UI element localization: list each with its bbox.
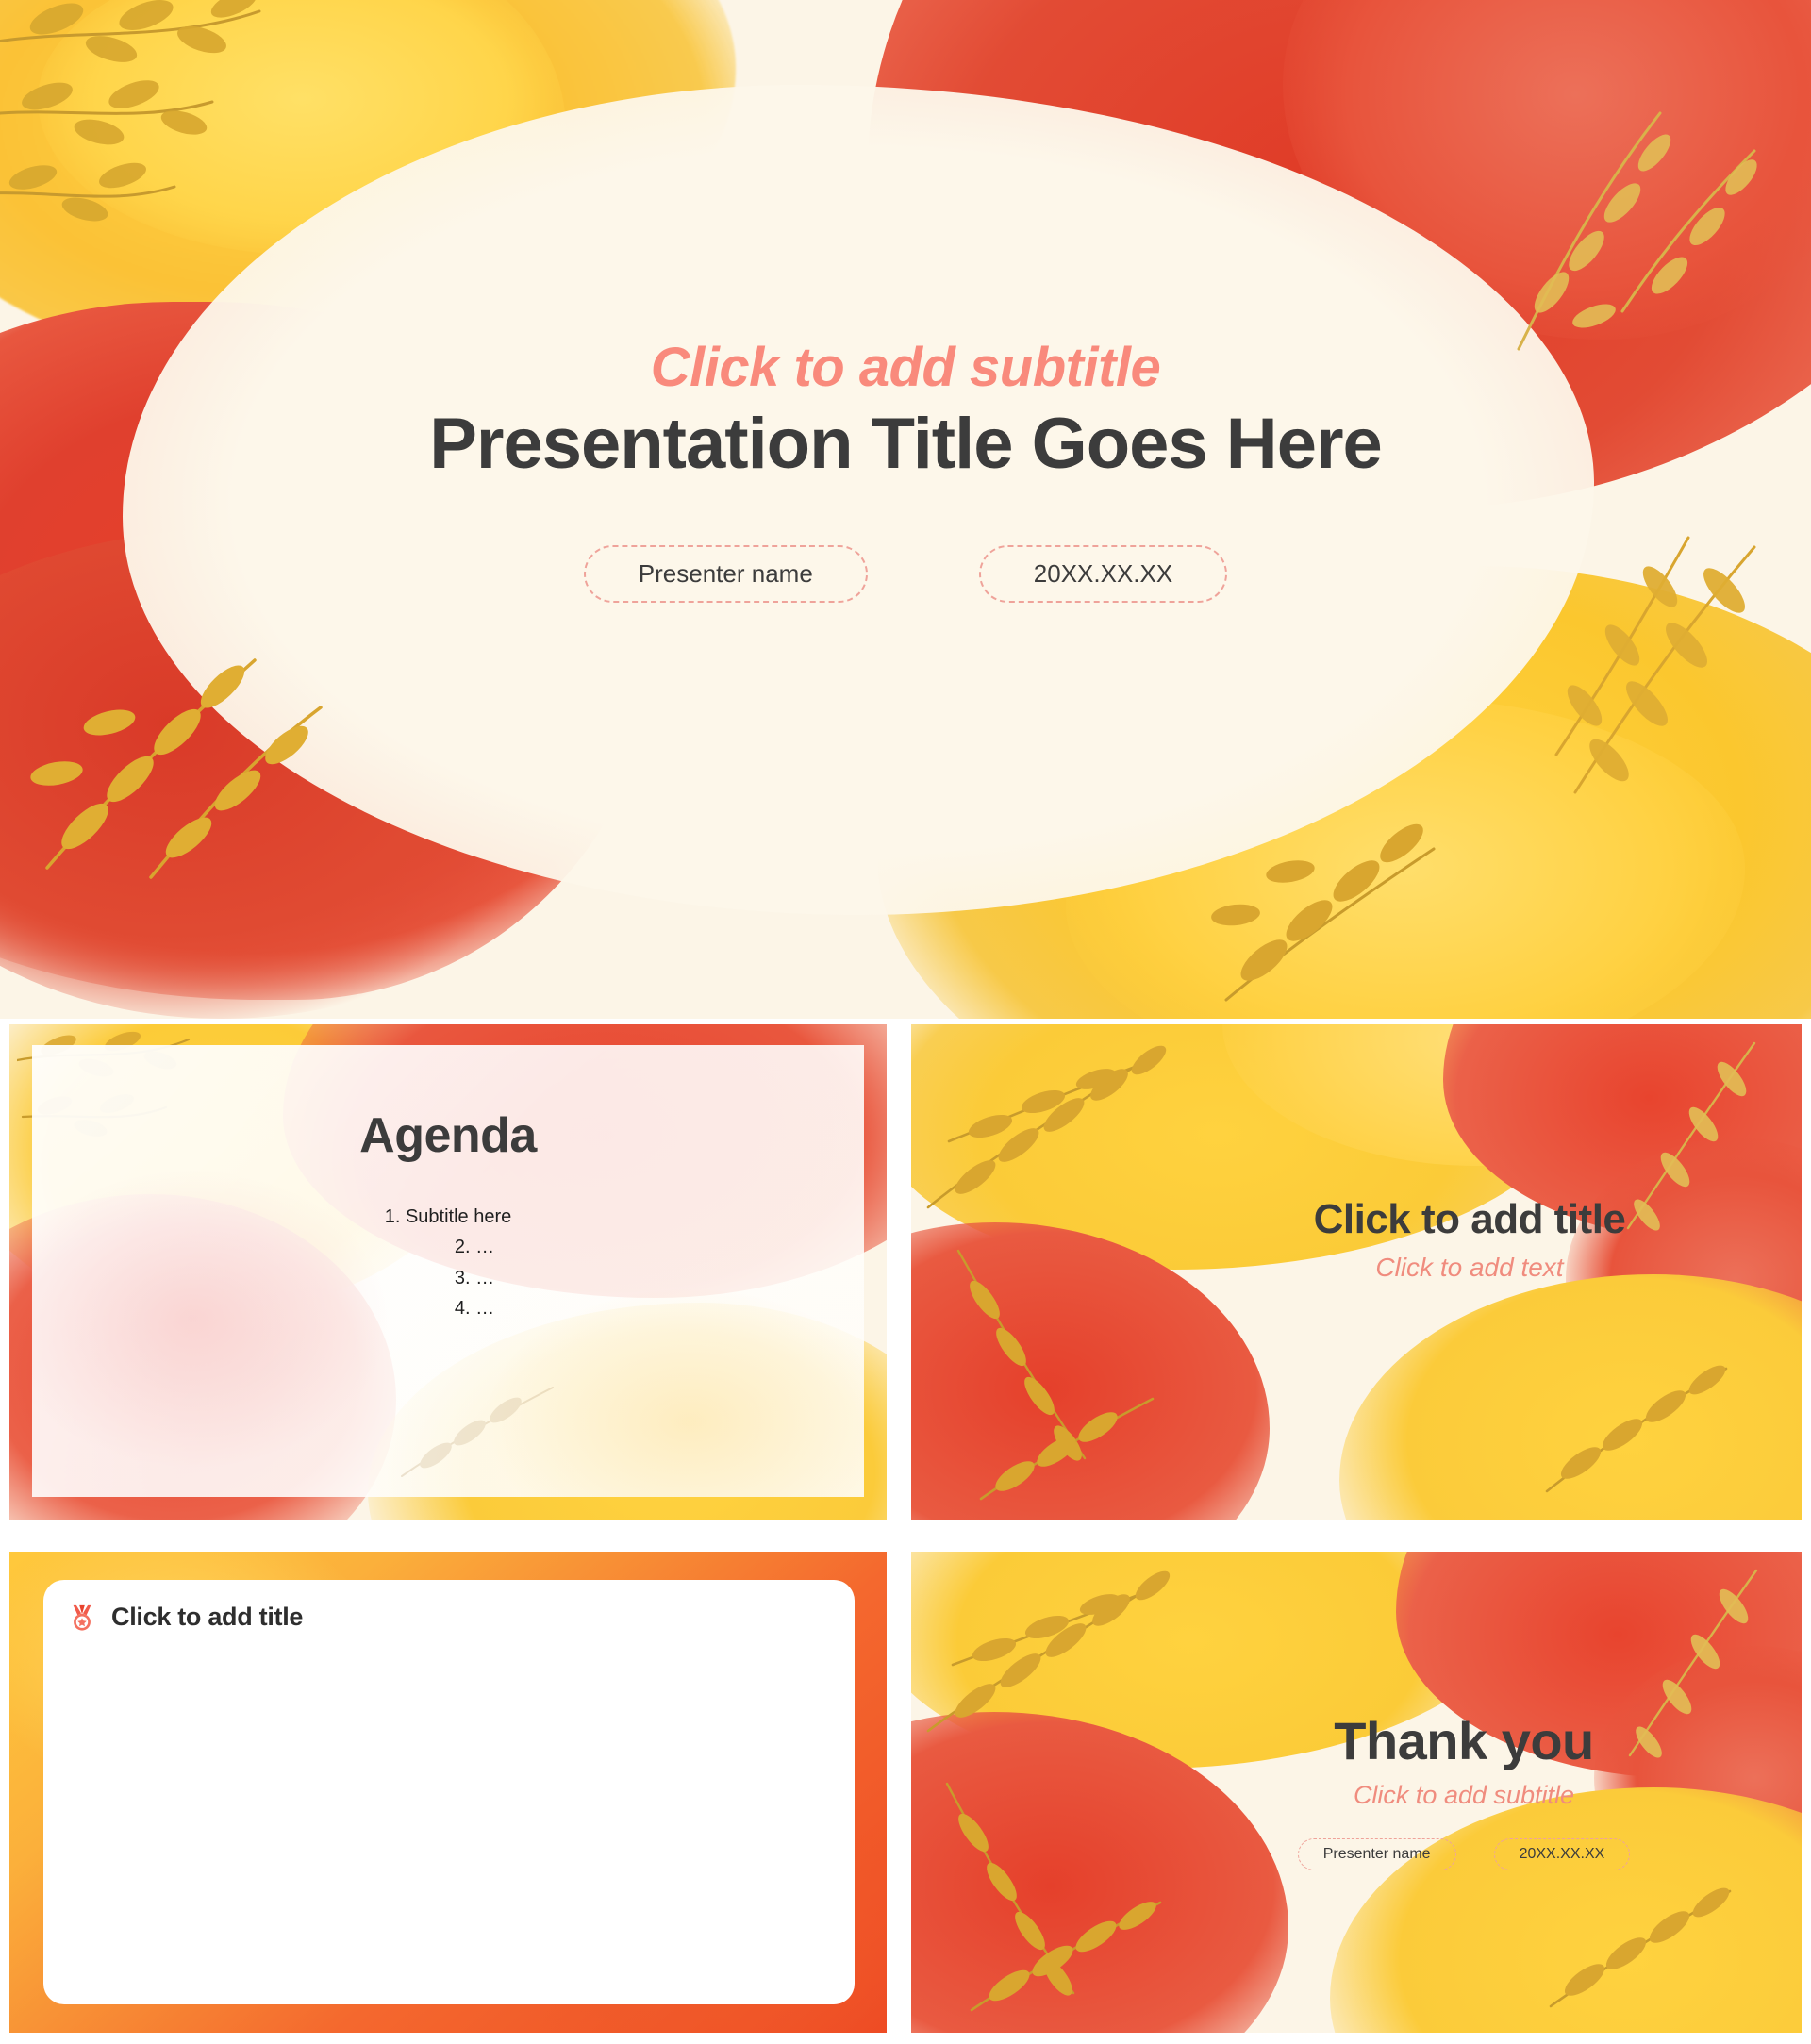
agenda-list: 1. Subtitle here 2. … 3. … 4. … bbox=[32, 1202, 864, 1324]
section-text-placeholder[interactable]: Click to add text bbox=[1177, 1253, 1762, 1283]
thanks-subtitle[interactable]: Click to add subtitle bbox=[1171, 1781, 1756, 1810]
thanks-gold-leaf-sprig-bottom-left bbox=[958, 1861, 1204, 2031]
gutter-right-margin bbox=[1802, 1019, 1811, 2044]
content-body-area[interactable] bbox=[43, 1632, 855, 1943]
content-title-placeholder[interactable]: Click to add title bbox=[111, 1603, 303, 1632]
agenda-title[interactable]: Agenda bbox=[32, 1107, 864, 1164]
slide-content[interactable]: Click to add title bbox=[9, 1552, 887, 2033]
gutter-vertical bbox=[887, 1019, 911, 2044]
thanks-gold-leaf-sprig-left bbox=[936, 1778, 1153, 2023]
cover-meta-row: Presenter name 20XX.XX.XX bbox=[0, 545, 1811, 603]
slide-agenda[interactable]: Agenda 1. Subtitle here 2. … 3. … 4. … bbox=[9, 1024, 887, 1520]
content-card-header: Click to add title bbox=[43, 1580, 855, 1632]
agenda-list-item[interactable]: 3. … bbox=[32, 1263, 864, 1293]
thanks-text-block: Thank you Click to add subtitle Presente… bbox=[1171, 1710, 1756, 1870]
section-gold-leaf-sprig-left bbox=[943, 1241, 1170, 1487]
agenda-list-item[interactable]: 2. … bbox=[32, 1232, 864, 1262]
section-gold-leaf-sprig-bottom-left bbox=[968, 1357, 1185, 1518]
slide-deck: Click to add subtitle Presentation Title… bbox=[0, 0, 1811, 2044]
gutter-bottom-margin bbox=[0, 2033, 1811, 2044]
medal-icon bbox=[68, 1604, 96, 1632]
section-watercolor-yellow-top-accent bbox=[1222, 1024, 1732, 1166]
thanks-meta-row: Presenter name 20XX.XX.XX bbox=[1171, 1838, 1756, 1870]
section-title-placeholder[interactable]: Click to add title bbox=[1177, 1196, 1762, 1243]
cover-title[interactable]: Presentation Title Goes Here bbox=[0, 405, 1811, 484]
thanks-title[interactable]: Thank you bbox=[1171, 1710, 1756, 1771]
thanks-date-pill[interactable]: 20XX.XX.XX bbox=[1494, 1838, 1631, 1870]
agenda-list-item[interactable]: 1. Subtitle here bbox=[32, 1202, 864, 1232]
gutter-left-margin bbox=[0, 1019, 9, 2044]
agenda-white-panel: Agenda 1. Subtitle here 2. … 3. … 4. … bbox=[32, 1045, 864, 1497]
content-white-card[interactable]: Click to add title bbox=[43, 1580, 855, 2004]
slide-section-title[interactable]: Click to add title Click to add text bbox=[911, 1024, 1802, 1520]
section-watercolor-yellow-bottom-right bbox=[1339, 1274, 1802, 1520]
agenda-list-item[interactable]: 4. … bbox=[32, 1293, 864, 1323]
thanks-presenter-pill[interactable]: Presenter name bbox=[1298, 1838, 1456, 1870]
cover-presenter-pill[interactable]: Presenter name bbox=[584, 545, 868, 603]
section-text-block: Click to add title Click to add text bbox=[1177, 1196, 1762, 1283]
section-gold-leaf-sprig-bottom-right bbox=[1528, 1316, 1764, 1514]
slide-thank-you[interactable]: Thank you Click to add subtitle Presente… bbox=[911, 1552, 1802, 2033]
cover-date-pill[interactable]: 20XX.XX.XX bbox=[979, 545, 1227, 603]
cover-subtitle[interactable]: Click to add subtitle bbox=[0, 340, 1811, 397]
slide-cover[interactable]: Click to add subtitle Presentation Title… bbox=[0, 0, 1811, 1019]
cover-text-block: Click to add subtitle Presentation Title… bbox=[0, 340, 1811, 603]
